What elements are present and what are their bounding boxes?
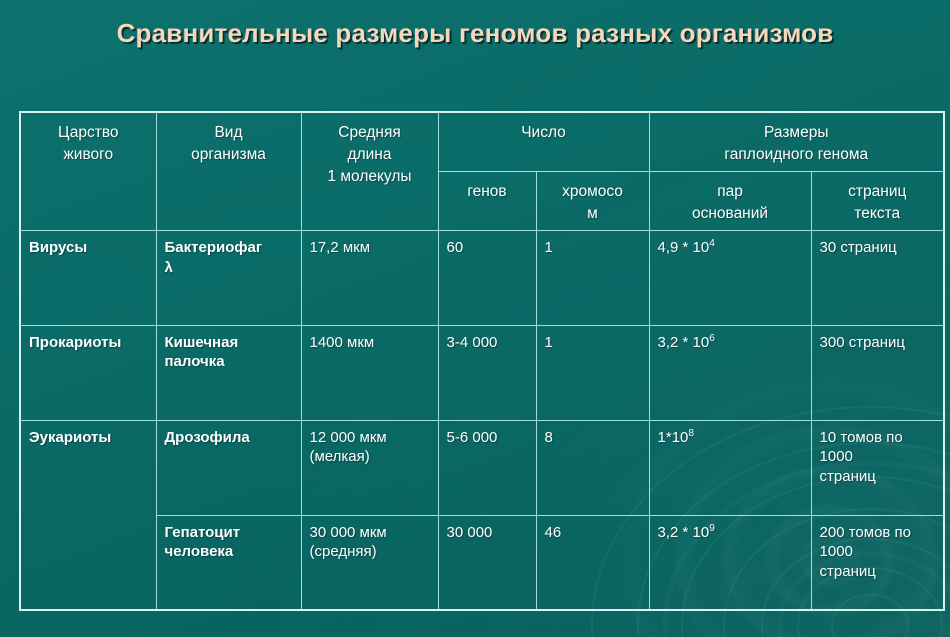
cell-pages: 30 страниц [811,231,944,326]
cell-pages-line1: 10 томов по [820,428,936,448]
header-basepairs-line2: оснований [658,203,803,225]
cell-basepairs-exponent: 6 [709,333,715,344]
cell-length-line2: (средняя) [310,542,430,562]
cell-average-length: 30 000 мкм (средняя) [301,515,438,610]
header-kingdom: Царство живого [20,112,156,231]
cell-pages-line1: 200 томов по [820,523,936,543]
cell-species-line2: палочка [165,352,293,372]
cell-average-length: 17,2 мкм [301,231,438,326]
cell-basepairs-mantissa: 4,9 * 10 [658,239,710,256]
header-kingdom-line1: Царство [29,122,148,144]
cell-chromosomes: 1 [536,231,649,326]
cell-basepairs: 1*108 [649,420,811,515]
header-basepairs-line1: пар [658,181,803,203]
cell-species: Бактериофаг λ [156,231,301,326]
cell-pages: 300 страниц [811,325,944,420]
cell-species-line1: Гепатоцит [165,523,293,543]
cell-species-line1: Бактериофаг [165,238,293,258]
cell-length-line1: 1400 мкм [310,333,430,353]
cell-length-line2: (мелкая) [310,447,430,467]
slide-canvas: Сравнительные размеры геномов разных орг… [0,0,950,637]
header-group-genome-size: Размеры гаплоидного генома [649,112,944,172]
cell-genes: 5-6 000 [438,420,536,515]
header-length-line1: Средняя [310,122,430,144]
cell-kingdom: Прокариоты [20,325,156,420]
header-species-line1: Вид [165,122,293,144]
table-row: Вирусы Бактериофаг λ 17,2 мкм 60 1 4,9 *… [20,231,944,326]
table-body: Вирусы Бактериофаг λ 17,2 мкм 60 1 4,9 *… [20,231,944,611]
header-row-top: Царство живого Вид организма Средняя дли… [20,112,944,172]
cell-basepairs-mantissa: 1*10 [658,429,689,446]
cell-basepairs: 3,2 * 106 [649,325,811,420]
header-species: Вид организма [156,112,301,231]
header-chromosomes-line1: хромосо [545,181,641,203]
cell-pages-line2: 1000 [820,542,936,562]
header-pages-line2: текста [820,203,936,225]
table-header: Царство живого Вид организма Средняя дли… [20,112,944,231]
cell-basepairs-exponent: 8 [688,428,694,439]
cell-species: Кишечная палочка [156,325,301,420]
cell-basepairs: 3,2 * 109 [649,515,811,610]
cell-species-line2: человека [165,542,293,562]
header-group-number: Число [438,112,649,172]
cell-pages-line2: 1000 [820,447,936,467]
cell-species: Дрозофила [156,420,301,515]
header-genome-line2: гаплоидного генома [658,144,936,166]
cell-average-length: 12 000 мкм (мелкая) [301,420,438,515]
header-sub-basepairs: пар оснований [649,172,811,231]
cell-pages-line1: 300 страниц [820,333,936,353]
cell-pages-line1: 30 страниц [820,238,936,258]
cell-species-line2: λ [165,258,293,278]
cell-chromosomes: 8 [536,420,649,515]
cell-genes: 30 000 [438,515,536,610]
header-average-length: Средняя длина 1 молекулы [301,112,438,231]
cell-pages: 10 томов по 1000 страниц [811,420,944,515]
cell-basepairs-mantissa: 3,2 * 10 [658,334,710,351]
header-pages-line1: страниц [820,181,936,203]
header-species-line2: организма [165,144,293,166]
cell-pages: 200 томов по 1000 страниц [811,515,944,610]
header-length-line3: 1 молекулы [310,166,430,188]
cell-chromosomes: 46 [536,515,649,610]
cell-kingdom: Эукариоты [20,420,156,610]
cell-pages-line3: страниц [820,562,936,582]
cell-genes: 60 [438,231,536,326]
cell-length-line1: 30 000 мкм [310,523,430,543]
table-row: Прокариоты Кишечная палочка 1400 мкм 3-4… [20,325,944,420]
cell-genes: 3-4 000 [438,325,536,420]
cell-length-line1: 12 000 мкм [310,428,430,448]
cell-species-line1: Дрозофила [165,428,293,448]
header-length-line2: длина [310,144,430,166]
page-title: Сравнительные размеры геномов разных орг… [0,18,950,49]
cell-species-line1: Кишечная [165,333,293,353]
header-sub-pages: страниц текста [811,172,944,231]
cell-basepairs-exponent: 4 [709,238,715,249]
cell-kingdom: Вирусы [20,231,156,326]
genome-comparison-table: Царство живого Вид организма Средняя дли… [19,111,945,611]
cell-pages-line3: страниц [820,467,936,487]
header-genome-line1: Размеры [658,122,936,144]
table-row: Эукариоты Дрозофила 12 000 мкм (мелкая) … [20,420,944,515]
cell-chromosomes: 1 [536,325,649,420]
header-kingdom-line2: живого [29,144,148,166]
header-sub-chromosomes: хромосо м [536,172,649,231]
header-sub-genes: генов [438,172,536,231]
cell-species: Гепатоцит человека [156,515,301,610]
cell-average-length: 1400 мкм [301,325,438,420]
table-row: Гепатоцит человека 30 000 мкм (средняя) … [20,515,944,610]
cell-basepairs: 4,9 * 104 [649,231,811,326]
cell-basepairs-exponent: 9 [709,523,715,534]
header-chromosomes-line2: м [545,203,641,225]
cell-basepairs-mantissa: 3,2 * 10 [658,524,710,541]
cell-length-line1: 17,2 мкм [310,238,430,258]
